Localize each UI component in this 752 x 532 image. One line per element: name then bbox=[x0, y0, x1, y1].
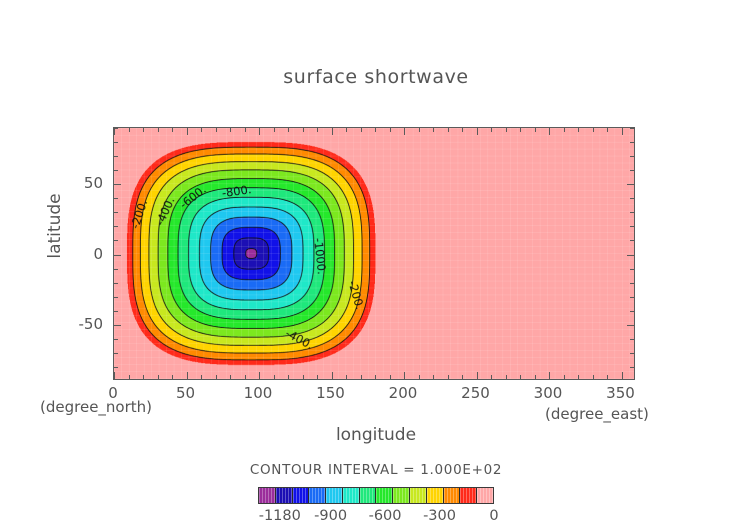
colorbar-tick-label: -600 bbox=[369, 508, 402, 524]
x-axis-label: longitude bbox=[0, 425, 752, 445]
axis-tick bbox=[433, 375, 434, 379]
axis-tick bbox=[317, 128, 318, 132]
axis-tick bbox=[303, 128, 304, 132]
axis-tick bbox=[578, 128, 579, 132]
axis-tick bbox=[477, 128, 478, 135]
axis-tick bbox=[622, 372, 623, 379]
colorbar-swatch bbox=[259, 488, 275, 503]
axis-tick bbox=[630, 297, 634, 298]
axis-tick bbox=[375, 375, 376, 379]
axis-tick bbox=[346, 375, 347, 379]
axis-tick bbox=[630, 142, 634, 143]
colorbar-swatch bbox=[443, 488, 460, 503]
axis-tick bbox=[317, 375, 318, 379]
axis-tick bbox=[462, 128, 463, 132]
axis-tick bbox=[630, 269, 634, 270]
axis-tick bbox=[172, 375, 173, 379]
axis-tick bbox=[630, 198, 634, 199]
axis-tick bbox=[259, 372, 260, 379]
colorbar-swatch bbox=[292, 488, 309, 503]
axis-tick bbox=[535, 375, 536, 379]
axis-tick bbox=[187, 128, 188, 135]
axis-tick bbox=[630, 353, 634, 354]
axis-tick bbox=[259, 128, 260, 135]
axis-tick bbox=[630, 212, 634, 213]
axis-tick bbox=[419, 128, 420, 132]
axis-tick bbox=[627, 184, 634, 185]
axis-tick bbox=[564, 128, 565, 132]
axis-tick bbox=[593, 128, 594, 132]
axis-tick bbox=[114, 325, 121, 326]
axis-tick bbox=[114, 269, 118, 270]
plot-area bbox=[113, 127, 635, 380]
degree-north-note: (degree_north) bbox=[40, 398, 152, 416]
axis-tick bbox=[114, 128, 118, 129]
axis-tick bbox=[114, 142, 118, 143]
axis-tick bbox=[288, 375, 289, 379]
axis-tick bbox=[114, 339, 118, 340]
axis-tick bbox=[230, 128, 231, 132]
axis-tick bbox=[201, 375, 202, 379]
axis-tick bbox=[448, 128, 449, 132]
axis-tick bbox=[114, 226, 118, 227]
axis-tick bbox=[187, 372, 188, 379]
axis-tick bbox=[114, 353, 118, 354]
axis-tick bbox=[332, 128, 333, 135]
axis-tick bbox=[578, 375, 579, 379]
colorbar-swatch bbox=[409, 488, 426, 503]
x-tick-label: 250 bbox=[461, 384, 490, 402]
colorbar-swatch bbox=[459, 488, 476, 503]
contour-interval-caption: CONTOUR INTERVAL = 1.000E+02 bbox=[0, 462, 752, 478]
axis-tick bbox=[114, 283, 118, 284]
axis-tick bbox=[433, 128, 434, 132]
axis-tick bbox=[114, 311, 118, 312]
axis-tick bbox=[491, 128, 492, 132]
axis-tick bbox=[288, 128, 289, 132]
axis-tick bbox=[630, 226, 634, 227]
axis-tick bbox=[114, 198, 118, 199]
axis-tick bbox=[630, 240, 634, 241]
axis-tick bbox=[114, 184, 121, 185]
colorbar-tick-label: -1180 bbox=[259, 508, 301, 524]
axis-tick bbox=[216, 375, 217, 379]
axis-tick bbox=[114, 372, 115, 379]
contour-canvas bbox=[114, 128, 634, 379]
axis-tick bbox=[346, 128, 347, 132]
axis-tick bbox=[216, 128, 217, 132]
axis-tick bbox=[630, 283, 634, 284]
axis-tick bbox=[404, 128, 405, 135]
axis-tick bbox=[448, 375, 449, 379]
colorbar-swatch bbox=[275, 488, 292, 503]
axis-tick bbox=[404, 372, 405, 379]
axis-tick bbox=[361, 375, 362, 379]
x-tick-label: 50 bbox=[176, 384, 195, 402]
axis-tick bbox=[564, 375, 565, 379]
colorbar-tick-label: -900 bbox=[314, 508, 347, 524]
colorbar-swatch bbox=[375, 488, 392, 503]
axis-tick bbox=[158, 128, 159, 132]
axis-tick bbox=[245, 128, 246, 132]
degree-east-note: (degree_east) bbox=[545, 405, 649, 423]
axis-tick bbox=[245, 375, 246, 379]
axis-tick bbox=[535, 128, 536, 132]
axis-tick bbox=[593, 375, 594, 379]
axis-tick bbox=[274, 128, 275, 132]
colorbar bbox=[258, 487, 494, 504]
x-tick-label: 100 bbox=[244, 384, 273, 402]
axis-tick bbox=[627, 255, 634, 256]
axis-tick bbox=[419, 375, 420, 379]
colorbar-tick-label: -300 bbox=[423, 508, 456, 524]
axis-tick bbox=[303, 375, 304, 379]
colorbar-swatch bbox=[325, 488, 342, 503]
chart-title: surface shortwave bbox=[0, 66, 752, 88]
colorbar-swatch bbox=[392, 488, 409, 503]
colorbar-swatch bbox=[359, 488, 376, 503]
axis-tick bbox=[274, 375, 275, 379]
axis-tick bbox=[506, 128, 507, 132]
x-tick-label: 150 bbox=[316, 384, 345, 402]
x-tick-label: 300 bbox=[534, 384, 563, 402]
axis-tick bbox=[549, 372, 550, 379]
axis-tick bbox=[143, 128, 144, 132]
axis-tick bbox=[361, 128, 362, 132]
axis-tick bbox=[477, 372, 478, 379]
colorbar-swatch bbox=[426, 488, 443, 503]
axis-tick bbox=[129, 375, 130, 379]
contour-figure: surface shortwave 050100150200250300350 … bbox=[0, 0, 752, 532]
axis-tick bbox=[172, 128, 173, 132]
axis-tick bbox=[114, 212, 118, 213]
axis-tick bbox=[491, 375, 492, 379]
axis-tick bbox=[390, 375, 391, 379]
colorbar-tick-label: 0 bbox=[489, 508, 498, 524]
axis-tick bbox=[332, 372, 333, 379]
axis-tick bbox=[129, 128, 130, 132]
axis-tick bbox=[607, 128, 608, 132]
axis-tick bbox=[375, 128, 376, 132]
axis-tick bbox=[114, 156, 118, 157]
axis-tick bbox=[114, 367, 118, 368]
axis-tick bbox=[520, 375, 521, 379]
axis-tick bbox=[630, 170, 634, 171]
y-tick-label: -50 bbox=[51, 315, 103, 333]
colorbar-swatch bbox=[308, 488, 325, 503]
axis-tick bbox=[143, 375, 144, 379]
axis-tick bbox=[390, 128, 391, 132]
axis-tick bbox=[230, 375, 231, 379]
axis-tick bbox=[622, 128, 623, 135]
colorbar-swatch bbox=[342, 488, 359, 503]
axis-tick bbox=[114, 297, 118, 298]
axis-tick bbox=[114, 240, 118, 241]
axis-tick bbox=[506, 375, 507, 379]
x-tick-label: 350 bbox=[606, 384, 635, 402]
axis-tick bbox=[630, 156, 634, 157]
axis-tick bbox=[114, 128, 115, 135]
axis-tick bbox=[158, 375, 159, 379]
colorbar-swatch bbox=[476, 488, 493, 503]
axis-tick bbox=[549, 128, 550, 135]
axis-tick bbox=[630, 128, 634, 129]
axis-tick bbox=[462, 375, 463, 379]
axis-tick bbox=[630, 311, 634, 312]
axis-tick bbox=[201, 128, 202, 132]
axis-tick bbox=[630, 339, 634, 340]
y-axis-label: latitude bbox=[45, 166, 65, 286]
axis-tick bbox=[630, 367, 634, 368]
x-tick-label: 200 bbox=[389, 384, 418, 402]
axis-tick bbox=[520, 128, 521, 132]
axis-tick bbox=[627, 325, 634, 326]
axis-tick bbox=[114, 170, 118, 171]
axis-tick bbox=[607, 375, 608, 379]
axis-tick bbox=[114, 255, 121, 256]
